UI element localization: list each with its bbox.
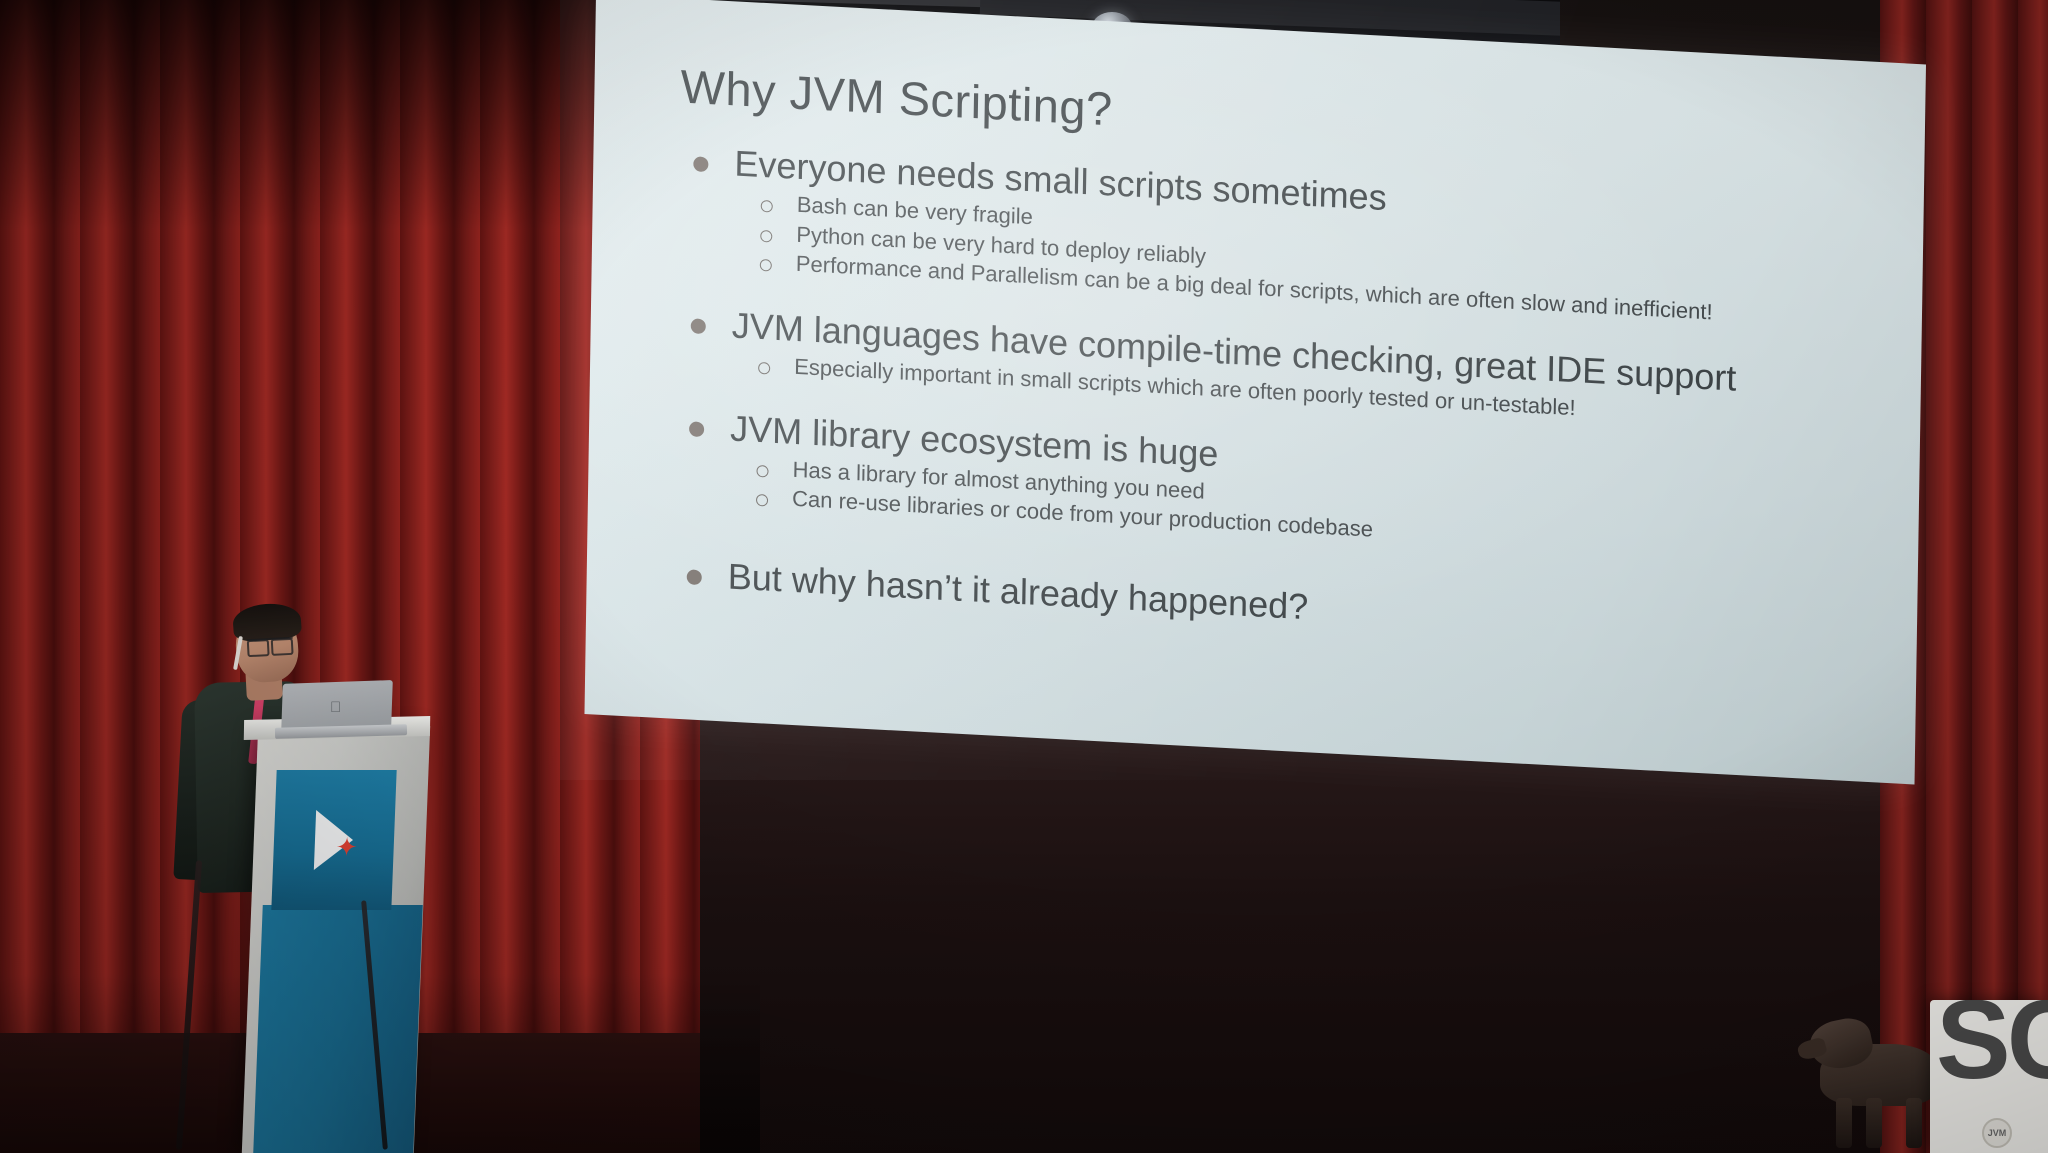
conference-stage-photo: Why JVM Scripting? Everyone needs small … [0, 0, 2048, 1153]
apple-logo-icon:  [330, 700, 343, 715]
podium-logo-star-icon: ✦ [335, 836, 358, 858]
mascot-leg [1866, 1098, 1882, 1148]
hollow-bullet-icon [761, 200, 773, 213]
slide-block: JVM library ecosystem is huge Has a libr… [674, 404, 1880, 570]
hollow-bullet-icon [756, 494, 768, 507]
slide-bullet-list: Everyone needs small scripts sometimes B… [672, 140, 1884, 673]
mascot-leg [1906, 1098, 1922, 1148]
filled-bullet-icon [689, 421, 704, 437]
slide-block: But why hasn’t it already happened? [672, 552, 1877, 658]
mascot-leg [1836, 1098, 1852, 1148]
speaker-glasses-icon [247, 637, 294, 651]
projection-screen: Why JVM Scripting? Everyone needs small … [584, 0, 1926, 784]
filled-bullet-icon [687, 569, 702, 585]
podium-logo-panel: ✦ [271, 770, 396, 910]
main-bullet: But why hasn’t it already happened? [672, 552, 1877, 658]
hollow-bullet-icon [756, 465, 768, 478]
main-bullet-text: But why hasn’t it already happened? [727, 555, 1308, 628]
signage-text: SC [1936, 1000, 2048, 1096]
signage-badge-text: JVM [1988, 1128, 2007, 1138]
filled-bullet-icon [693, 156, 708, 172]
hollow-bullet-icon [758, 362, 770, 375]
signage-badge: JVM [1982, 1118, 2012, 1148]
presentation-slide: Why JVM Scripting? Everyone needs small … [671, 59, 1885, 765]
slide-block: Everyone needs small scripts sometimes B… [678, 140, 1884, 335]
hollow-bullet-icon [760, 259, 772, 272]
podium-base [253, 905, 423, 1153]
hollow-bullet-icon [760, 230, 772, 243]
filled-bullet-icon [691, 318, 706, 334]
venue-signage: SC JVM [1930, 1000, 2048, 1153]
